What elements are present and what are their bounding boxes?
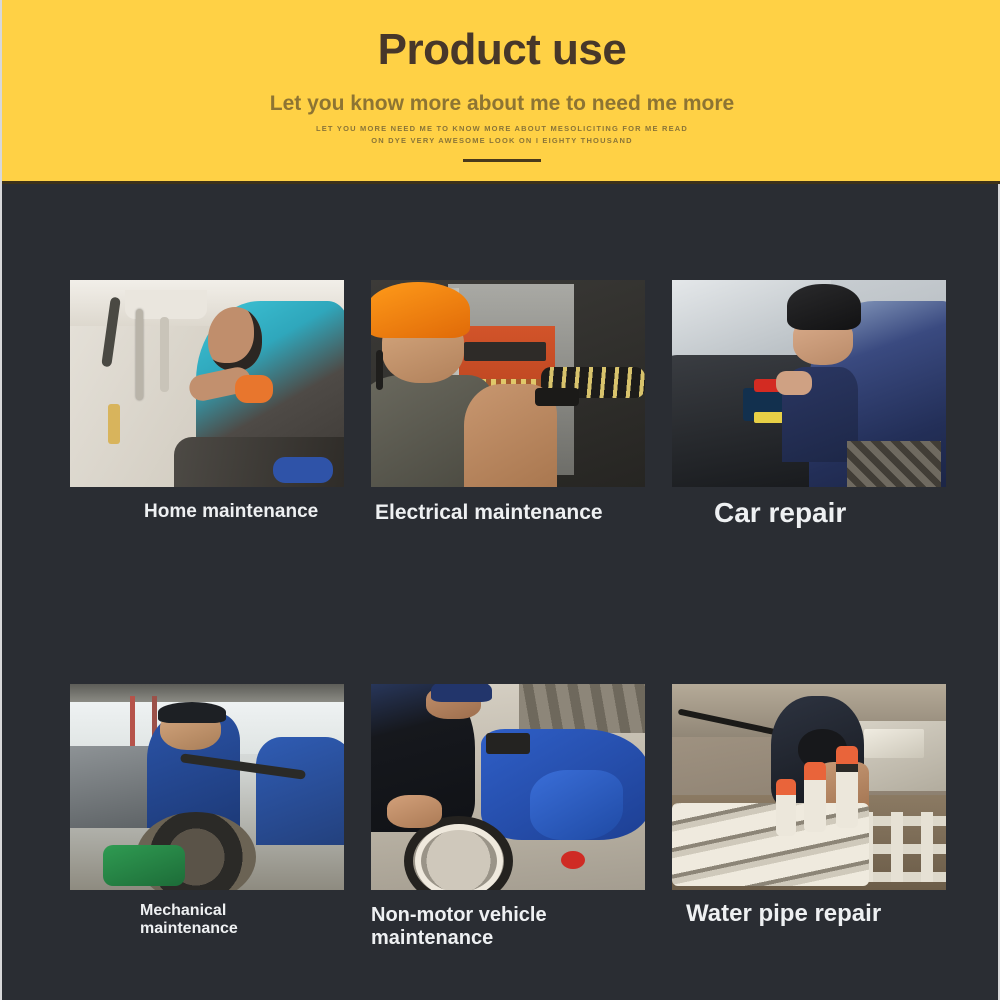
header-divider-rule bbox=[463, 159, 541, 162]
fineprint-line-1: LET YOU MORE NEED ME TO KNOW MORE ABOUT … bbox=[2, 123, 1000, 135]
photo-bicycle-repair bbox=[371, 684, 645, 890]
header-banner: Product use Let you know more about me t… bbox=[2, 0, 1000, 184]
photo-electrician-control-panel bbox=[371, 280, 645, 487]
card-caption: Car repair bbox=[672, 497, 946, 529]
card-caption: Water pipe repair bbox=[672, 900, 946, 927]
use-case-card-water-pipe-repair[interactable]: Water pipe repair bbox=[672, 684, 946, 950]
header-fineprint: LET YOU MORE NEED ME TO KNOW MORE ABOUT … bbox=[2, 123, 1000, 146]
card-caption: Home maintenance bbox=[70, 501, 344, 523]
photo-workers-heavy-machinery bbox=[70, 684, 344, 890]
use-case-row-1: Home maintenance Electrical maintenance bbox=[70, 280, 945, 529]
use-case-card-home-maintenance[interactable]: Home maintenance bbox=[70, 280, 344, 529]
page-subtitle: Let you know more about me to need me mo… bbox=[2, 92, 1000, 116]
photo-pvc-water-pipes bbox=[672, 684, 946, 890]
fineprint-line-2: ON DYE VERY AWESOME LOOK ON I EIGHTY THO… bbox=[2, 135, 1000, 147]
card-caption: Electrical maintenance bbox=[371, 501, 645, 525]
product-use-page: Product use Let you know more about me t… bbox=[0, 0, 1000, 1000]
card-caption: Non-motor vehicle maintenance bbox=[371, 904, 645, 950]
use-case-row-2: Mechanical maintenance Non-motor vehicle… bbox=[70, 684, 945, 950]
use-case-grid: Home maintenance Electrical maintenance bbox=[70, 280, 945, 950]
use-case-card-car-repair[interactable]: Car repair bbox=[672, 280, 946, 529]
photo-mechanic-engine-bay bbox=[672, 280, 946, 487]
card-caption: Mechanical maintenance bbox=[70, 902, 344, 938]
page-title: Product use bbox=[2, 26, 1000, 74]
photo-plumber-under-sink bbox=[70, 280, 344, 487]
use-case-card-non-motor-vehicle-maintenance[interactable]: Non-motor vehicle maintenance bbox=[371, 684, 645, 950]
use-case-card-mechanical-maintenance[interactable]: Mechanical maintenance bbox=[70, 684, 344, 950]
use-case-card-electrical-maintenance[interactable]: Electrical maintenance bbox=[371, 280, 645, 529]
